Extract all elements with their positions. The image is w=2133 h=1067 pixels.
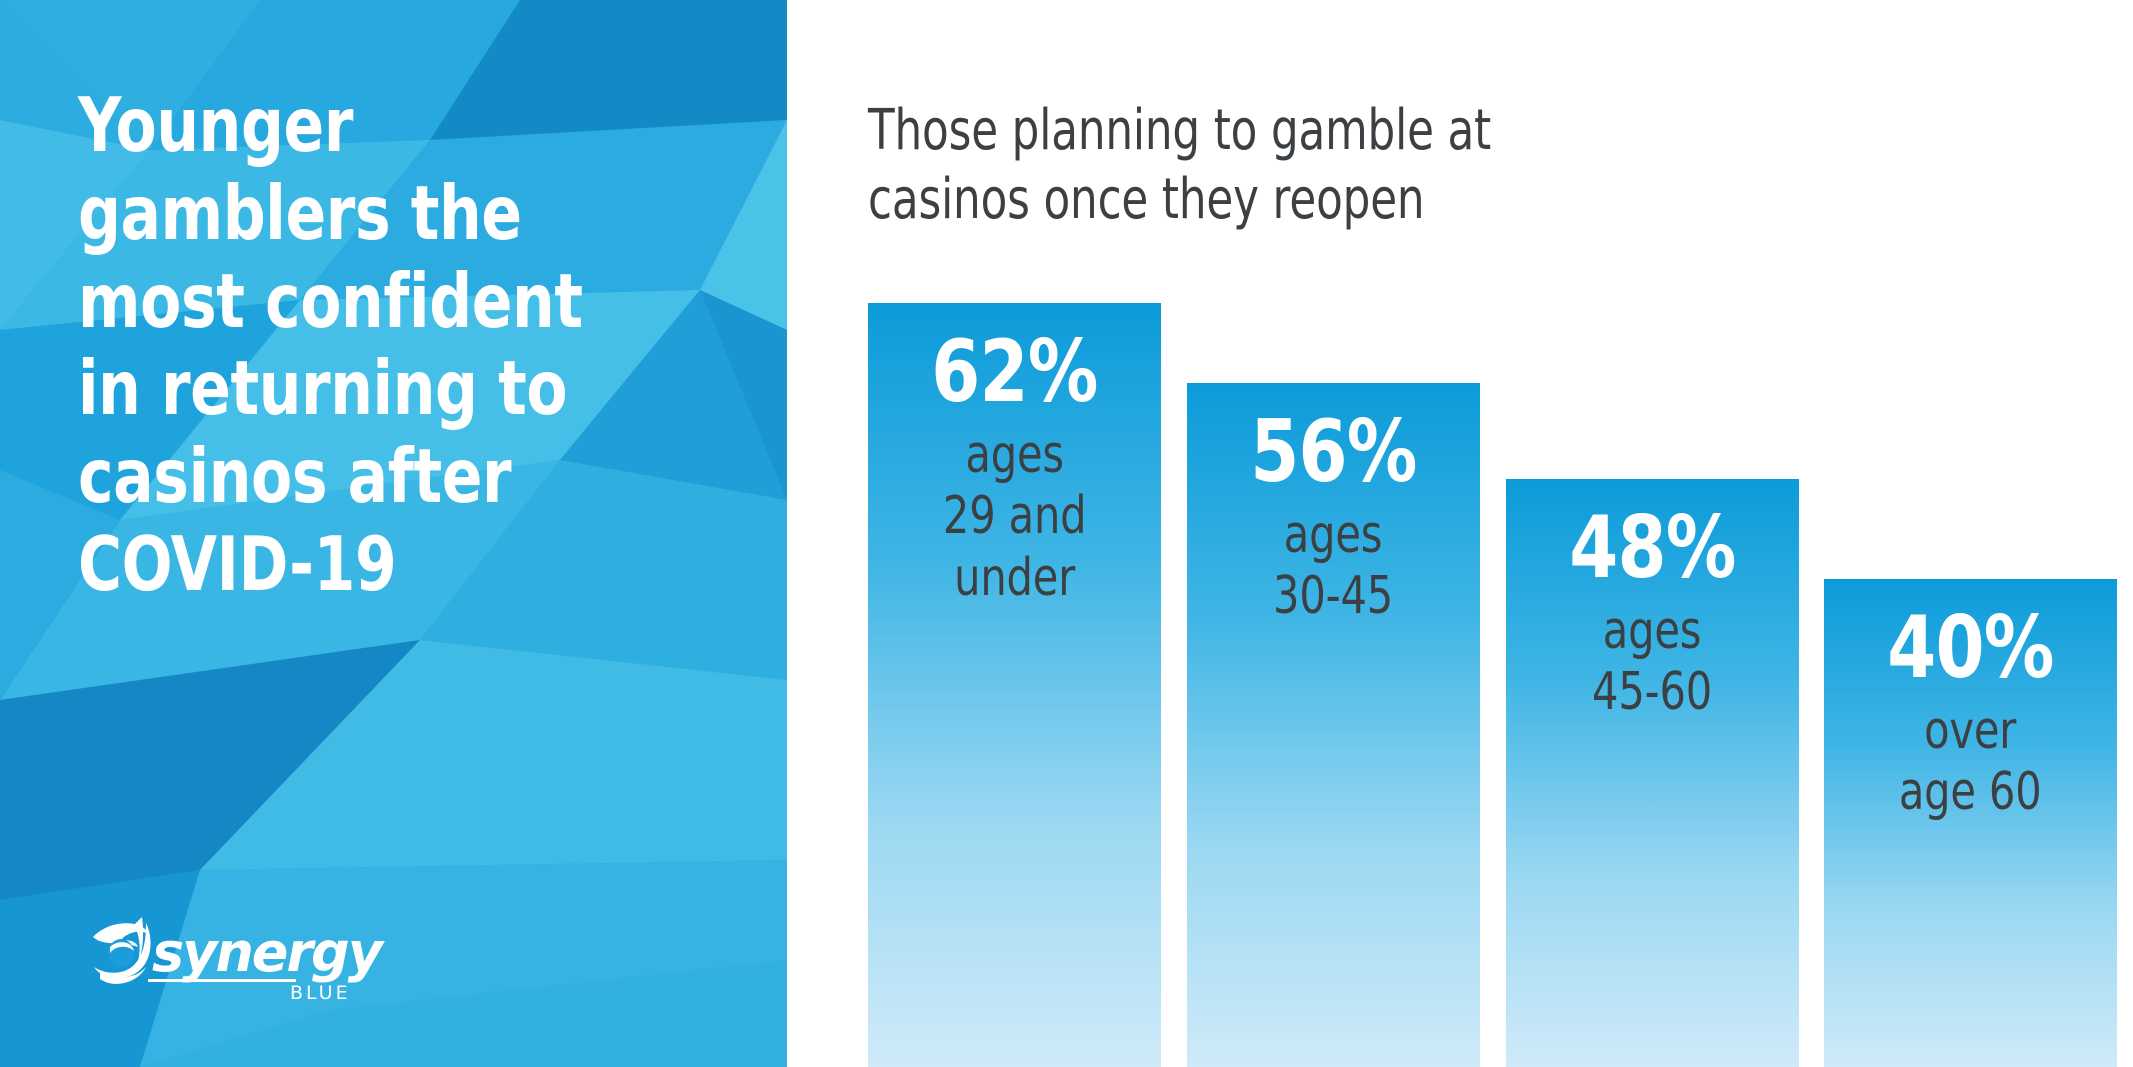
left-headline-panel: Younger gamblers the most confident in r…	[0, 0, 787, 1067]
bar-value-label: 62%	[931, 329, 1097, 415]
synergy-swirl-icon	[93, 917, 151, 984]
bar-category-label: ages 45-60	[1592, 601, 1712, 724]
page-title: Younger gamblers the most confident in r…	[78, 82, 590, 609]
bar-category-label: ages 30-45	[1273, 505, 1393, 628]
bar-value-label: 56%	[1250, 409, 1416, 495]
logo-wordmark: synergy	[152, 921, 386, 984]
infographic-canvas: Younger gamblers the most confident in r…	[0, 0, 2133, 1067]
bar-category-label: ages 29 and under	[943, 425, 1086, 609]
chart-panel: Those planning to gamble at casinos once…	[787, 0, 2133, 1067]
bar-column-1: 62% ages 29 and under	[868, 303, 1161, 1067]
logo-svg: synergy BLUE	[80, 909, 400, 1005]
logo-sub-wordmark: BLUE	[290, 982, 351, 1004]
bar-value-label: 40%	[1887, 605, 2053, 691]
bar-column-3: 48% ages 45-60	[1506, 479, 1799, 1067]
bar-column-2: 56% ages 30-45	[1187, 383, 1480, 1067]
bar-chart: 62% ages 29 and under 56% ages 30-45 48%…	[787, 0, 2133, 1067]
synergy-blue-logo: synergy BLUE	[80, 909, 400, 1005]
bar-category-label: over age 60	[1899, 701, 2042, 824]
bar-value-label: 48%	[1569, 505, 1735, 591]
bar-column-4: 40% over age 60	[1824, 579, 2117, 1067]
logo-underline	[148, 979, 296, 982]
